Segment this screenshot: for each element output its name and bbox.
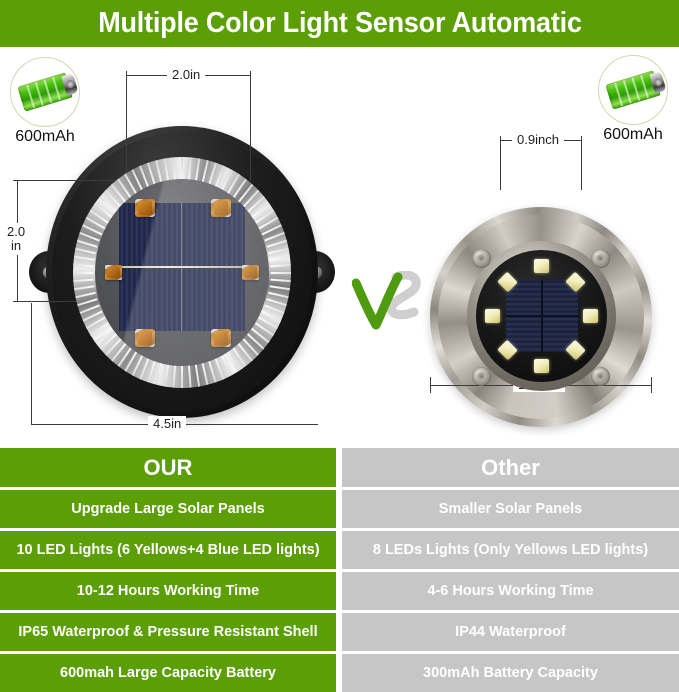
dim-cap [13, 180, 125, 181]
dim-guide-bottom-left [31, 303, 32, 424]
table-header-row: OUR Other [0, 448, 679, 487]
dim-label-side-value: 2.0 [7, 225, 25, 239]
led-chip [242, 265, 259, 280]
table-row: 10-12 Hours Working Time 4-6 Hours Worki… [0, 572, 679, 610]
dim-label-side-height: 2.0 in [4, 223, 28, 255]
table-cell-other: 8 LEDs Lights (Only Yellows LED lights) [342, 531, 679, 569]
table-cell-our: Upgrade Large Solar Panels [0, 490, 336, 528]
dim-label-top-width: 2.0in [167, 67, 205, 82]
our-product-image [29, 126, 335, 418]
other-product-image [430, 207, 652, 427]
table-header-other: Other [342, 448, 679, 487]
screw-icon [591, 367, 610, 386]
screw-icon [591, 249, 610, 268]
table-row: 10 LED Lights (6 Yellows+4 Blue LED ligh… [0, 531, 679, 569]
versus-mark [352, 271, 432, 333]
led-chip [211, 329, 231, 347]
table-row: 600mah Large Capacity Battery 300mAh Bat… [0, 654, 679, 692]
table-cell-our: IP65 Waterproof & Pressure Resistant She… [0, 613, 336, 651]
screw-icon [472, 249, 491, 268]
dim-cap [581, 136, 582, 145]
product-shell [46, 126, 318, 418]
table-header-our: OUR [0, 448, 336, 487]
dim-guide-right [250, 81, 251, 181]
table-row: Upgrade Large Solar Panels Smaller Solar… [0, 490, 679, 528]
dim-label-side-unit: in [7, 239, 25, 253]
page-title: Multiple Color Light Sensor Automatic [98, 7, 582, 40]
dim-cap [651, 377, 652, 393]
led-chip [583, 309, 598, 323]
solar-panel [119, 203, 245, 331]
table-row: IP65 Waterproof & Pressure Resistant She… [0, 613, 679, 651]
header-banner: Multiple Color Light Sensor Automatic [0, 0, 679, 47]
dim-cap [250, 71, 251, 81]
inner-face [476, 250, 607, 382]
dim-cap [126, 71, 127, 81]
table-cell-other: IP44 Waterproof [342, 613, 679, 651]
led-chip [105, 265, 122, 280]
led-chip [135, 199, 155, 217]
table-cell-other: Smaller Solar Panels [342, 490, 679, 528]
product-comparison-stage: 600mAh 600mAh [0, 47, 679, 448]
dim-label-top-width-other: 0.9inch [512, 132, 564, 147]
right-battery-label: 600mAh [594, 126, 672, 144]
right-battery-badge: 600mAh [594, 55, 672, 144]
dim-cap [430, 377, 431, 393]
led-chip [485, 309, 500, 323]
inner-face [95, 179, 269, 366]
led-chip [135, 329, 155, 347]
table-cell-other: 4-6 Hours Working Time [342, 572, 679, 610]
table-cell-our: 10-12 Hours Working Time [0, 572, 336, 610]
battery-icon [598, 55, 668, 125]
table-cell-our: 10 LED Lights (6 Yellows+4 Blue LED ligh… [0, 531, 336, 569]
battery-icon [10, 57, 80, 127]
led-chip [534, 359, 549, 373]
led-chip [534, 259, 549, 273]
screw-icon [472, 367, 491, 386]
dim-guide-right-other [581, 145, 582, 190]
dim-guide-left-other [500, 145, 501, 190]
led-chip [211, 199, 231, 217]
table-cell-other: 300mAh Battery Capacity [342, 654, 679, 692]
table-cell-our: 600mah Large Capacity Battery [0, 654, 336, 692]
solar-panel [506, 280, 578, 352]
dim-cap [500, 136, 501, 145]
dim-label-bottom-diameter: 4.5in [148, 416, 186, 431]
comparison-table: OUR Other Upgrade Large Solar Panels Sma… [0, 448, 679, 679]
dim-guide-left [126, 81, 127, 181]
